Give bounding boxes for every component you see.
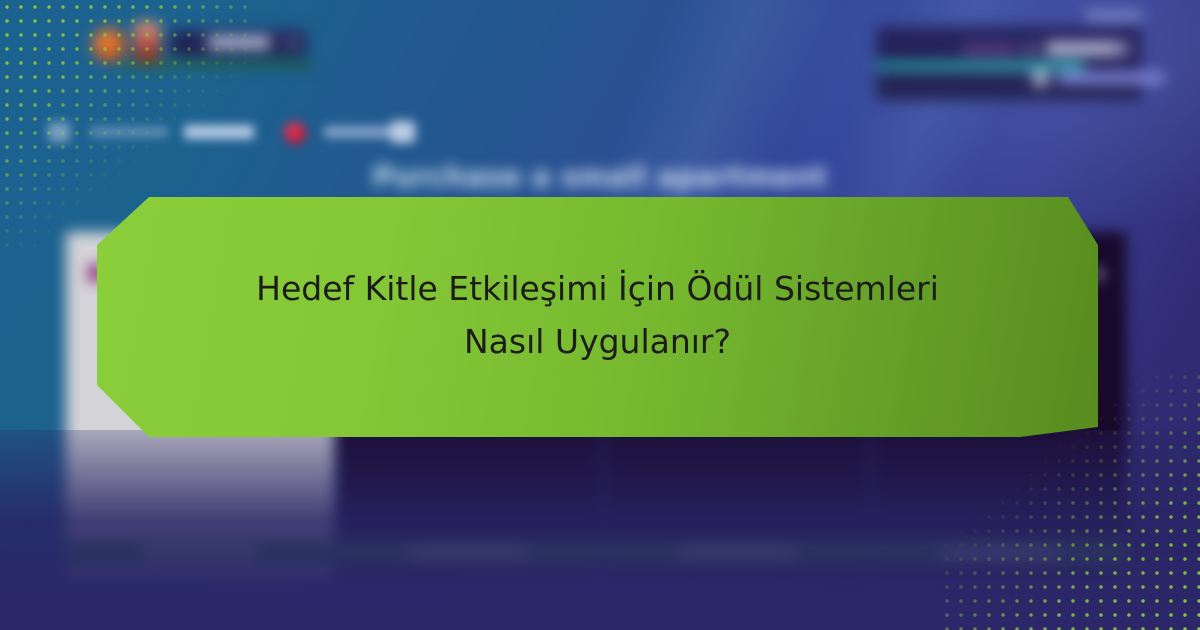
title-banner: Hedef Kitle Etkileşimi İçin Ödül Sisteml… (97, 197, 1098, 437)
background-lower-overlay (0, 430, 1200, 630)
banner-title: Hedef Kitle Etkileşimi İçin Ödül Sisteml… (218, 262, 978, 373)
